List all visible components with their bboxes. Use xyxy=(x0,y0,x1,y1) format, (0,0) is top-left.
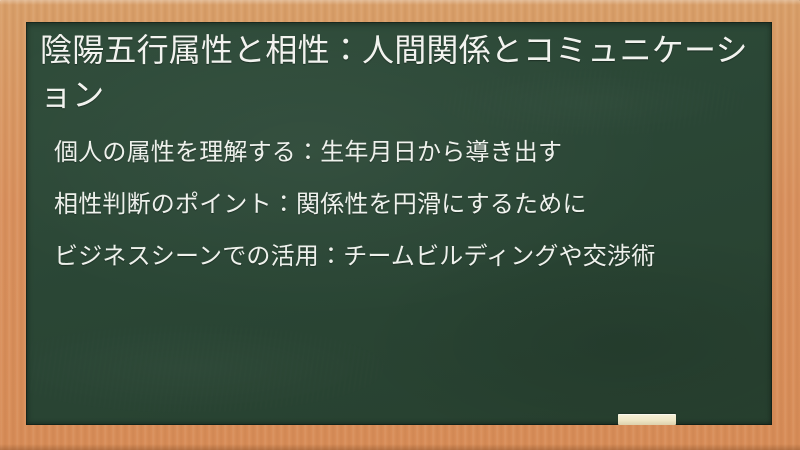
chalkboard-surface: 陰陽五行属性と相性：人間関係とコミュニケーション 個人の属性を理解する：生年月日… xyxy=(26,22,772,425)
chalk-stick xyxy=(618,414,676,425)
list-item: 相性判断のポイント：関係性を円滑にするために xyxy=(54,188,754,222)
list-item: ビジネスシーンでの活用：チームビルディングや交渉術 xyxy=(54,240,754,274)
bullet-list: 個人の属性を理解する：生年月日から導き出す 相性判断のポイント：関係性を円滑にす… xyxy=(40,136,754,274)
slide-title: 陰陽五行属性と相性：人間関係とコミュニケーション xyxy=(40,28,754,118)
board-content: 陰陽五行属性と相性：人間関係とコミュニケーション 個人の属性を理解する：生年月日… xyxy=(26,22,772,425)
chalkboard-figure: 陰陽五行属性と相性：人間関係とコミュニケーション 個人の属性を理解する：生年月日… xyxy=(0,0,800,450)
frame-bottom-shadow xyxy=(0,444,800,450)
list-item: 個人の属性を理解する：生年月日から導き出す xyxy=(54,136,754,170)
frame-top-highlight xyxy=(0,0,800,5)
